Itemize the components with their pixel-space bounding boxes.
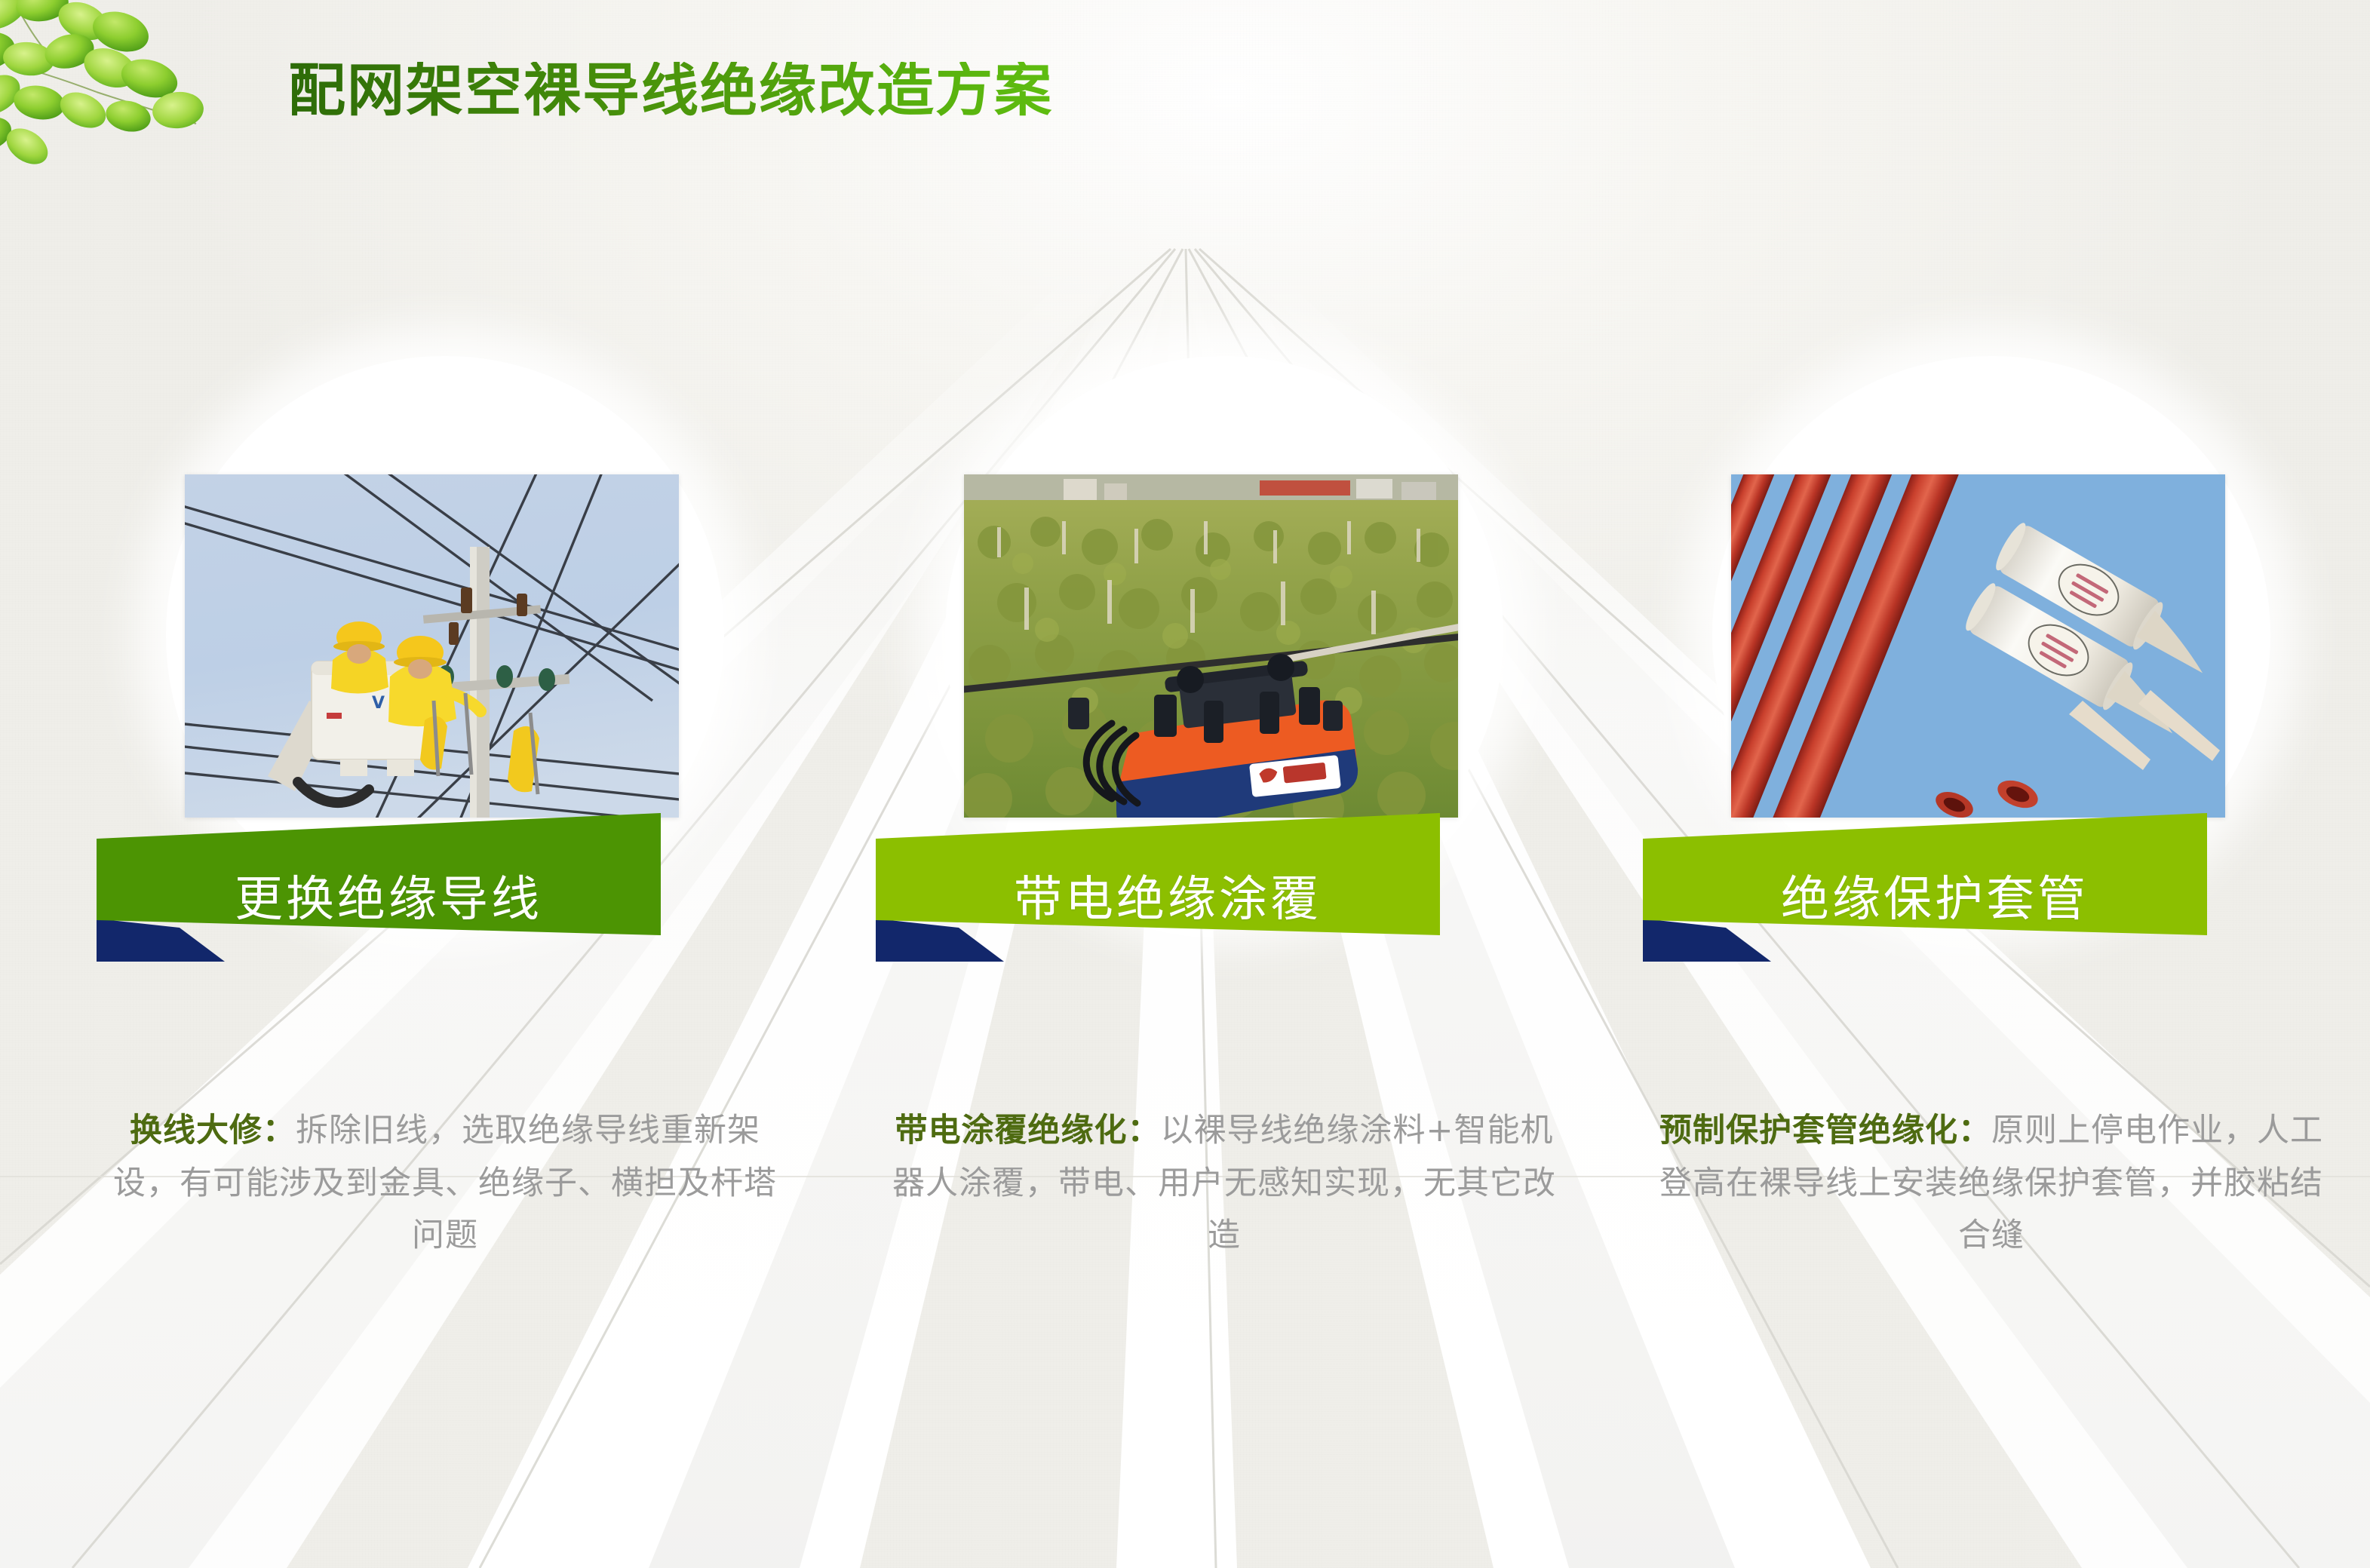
card-caption-lead-2: 带电涂覆绝缘化： <box>895 1112 1160 1149</box>
card-caption-2: 带电涂覆绝缘化：以裸导线绝缘涂料+智能机器人涂覆，带电、用户无感知实现，无其它改… <box>885 1105 1564 1263</box>
page-title: 配网架空裸导线绝缘改造方案 <box>288 62 1053 119</box>
banner-fold-tab-3 <box>1643 919 1771 962</box>
svg-text:V: V <box>372 694 385 713</box>
card-photo-coating-robot <box>964 474 1458 818</box>
card-caption-lead-1: 换线大修： <box>130 1112 296 1149</box>
card-caption-1: 换线大修：拆除旧线，选取绝缘导线重新架设，有可能涉及到金具、绝缘子、横担及杆塔问… <box>106 1105 784 1263</box>
card-banner-2[interactable]: 带电绝缘涂覆 <box>870 807 1466 962</box>
banner-body-3 <box>1643 813 2207 935</box>
card-photo-linemen: V <box>185 474 679 818</box>
banner-body-1 <box>97 813 661 935</box>
card-column-1: V <box>75 0 830 1568</box>
banner-body-2 <box>876 813 1440 935</box>
card-banner-1[interactable]: 更换绝缘导线 <box>91 807 686 962</box>
card-caption-3: 预制保护套管绝缘化：原则上停电作业，人工登高在裸导线上安装绝缘保护套管，并胶粘结… <box>1652 1105 2331 1263</box>
card-column-3: 绝缘保护套管 预制保护套管绝缘化：原则上停电作业，人工登高在裸导线上安装绝缘保护… <box>1622 0 2370 1568</box>
card-photo-insulation-sleeves <box>1731 474 2225 818</box>
card-banner-3[interactable]: 绝缘保护套管 <box>1637 807 2233 962</box>
card-caption-lead-3: 预制保护套管绝缘化： <box>1659 1112 1991 1149</box>
banner-fold-tab-2 <box>876 919 1004 962</box>
card-column-2: 带电绝缘涂覆 带电涂覆绝缘化：以裸导线绝缘涂料+智能机器人涂覆，带电、用户无感知… <box>855 0 1609 1568</box>
